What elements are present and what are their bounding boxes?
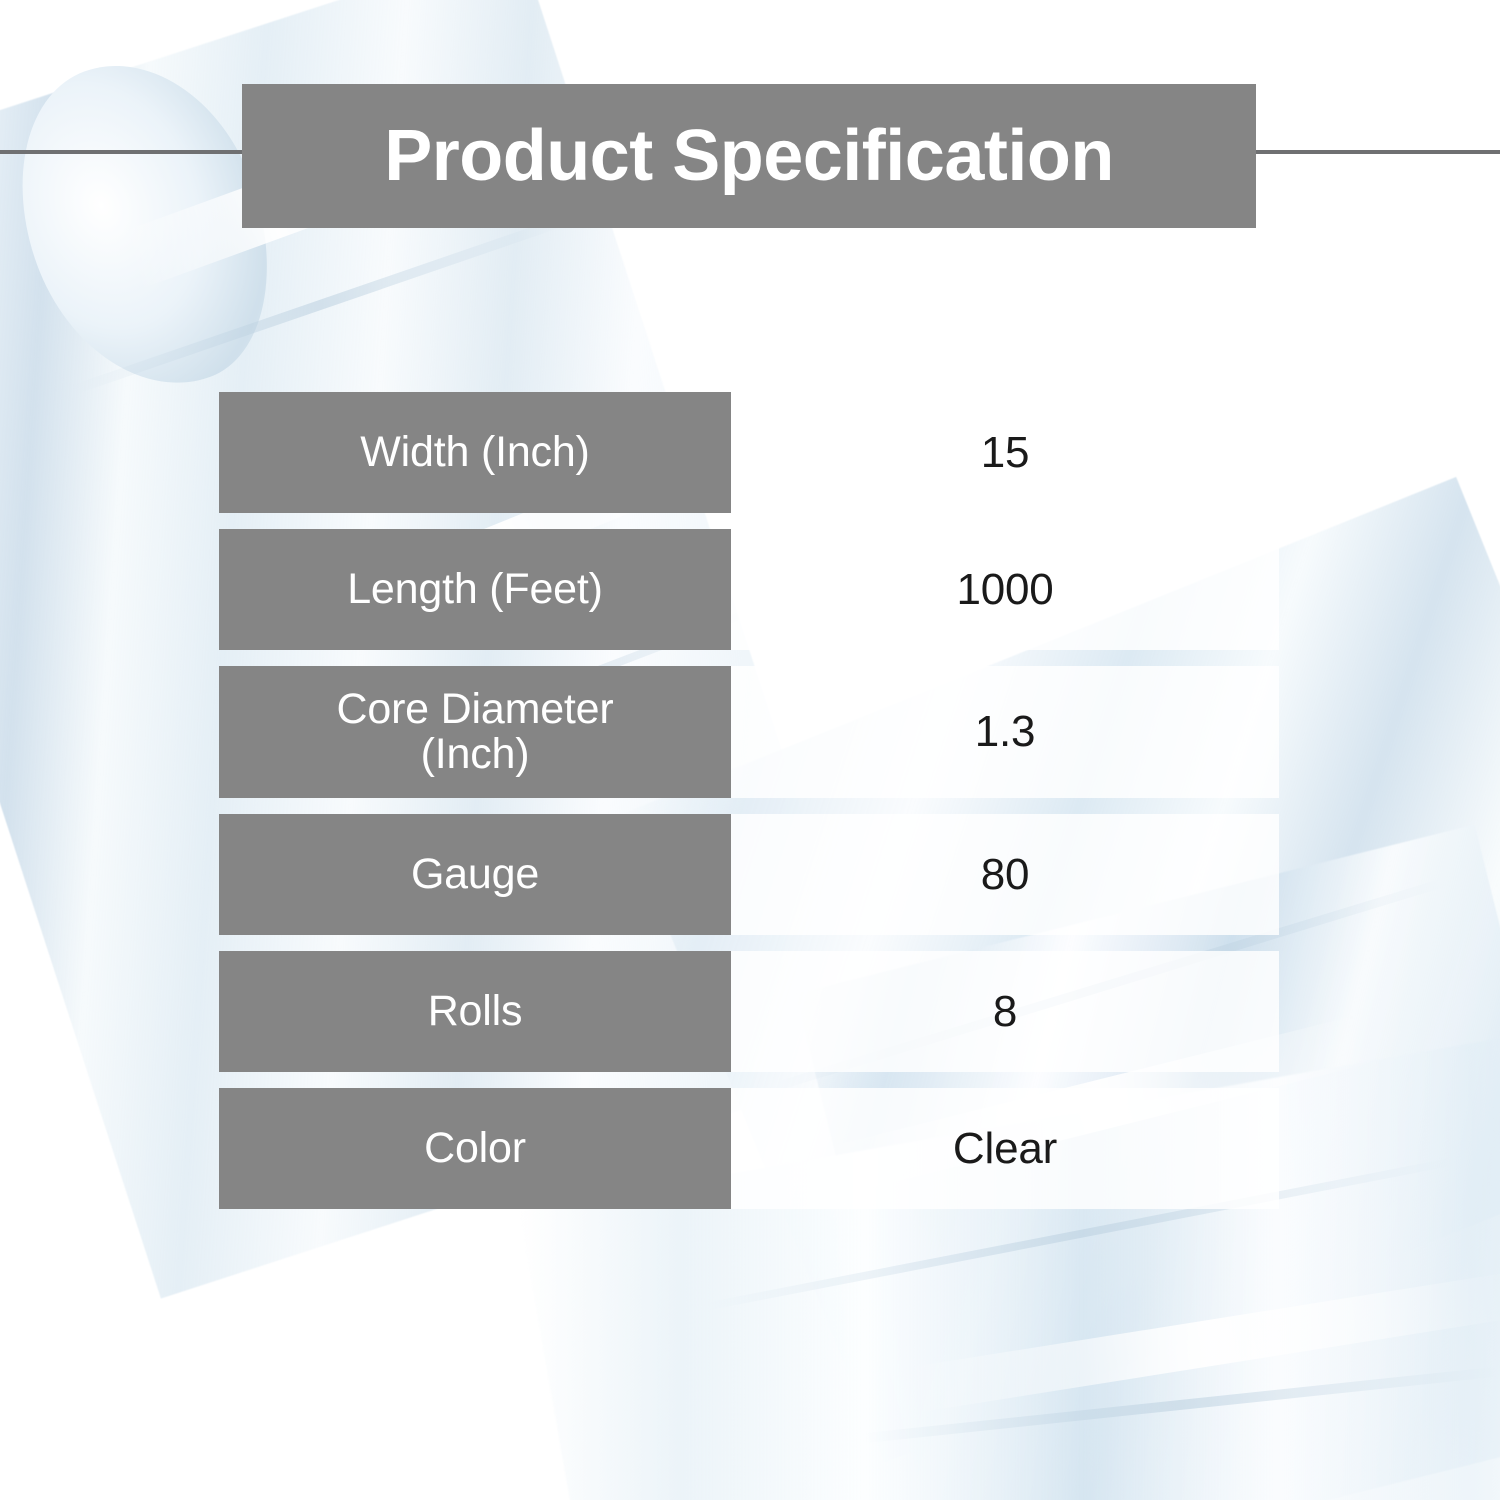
- spec-label-length: Length (Feet): [219, 529, 731, 650]
- spec-label-core-diameter-line2: (Inch): [421, 732, 530, 777]
- table-row: Rolls 8: [219, 951, 1279, 1072]
- spec-value-rolls: 8: [731, 951, 1279, 1072]
- table-row: Length (Feet) 1000: [219, 529, 1279, 650]
- background-highlight-streak: [900, 1272, 1500, 1414]
- table-row: Gauge 80: [219, 814, 1279, 935]
- spec-label-core-diameter: Core Diameter (Inch): [219, 666, 731, 798]
- specification-table: Width (Inch) 15 Length (Feet) 1000 Core …: [219, 392, 1279, 1225]
- spec-label-color: Color: [219, 1088, 731, 1209]
- spec-label-gauge: Gauge: [219, 814, 731, 935]
- spec-value-color: Clear: [731, 1088, 1279, 1209]
- table-row: Core Diameter (Inch) 1.3: [219, 666, 1279, 798]
- spec-label-rolls: Rolls: [219, 951, 731, 1072]
- spec-value-core-diameter: 1.3: [731, 666, 1279, 798]
- background-fold-line: [861, 1367, 1499, 1444]
- background-fold-line: [73, 216, 568, 395]
- spec-value-gauge: 80: [731, 814, 1279, 935]
- product-specification-page: Product Specification Width (Inch) 15 Le…: [0, 0, 1500, 1500]
- spec-label-width: Width (Inch): [219, 392, 731, 513]
- spec-value-width: 15: [731, 392, 1279, 513]
- title-plate: Product Specification: [242, 84, 1256, 228]
- spec-label-core-diameter-line1: Core Diameter: [337, 687, 614, 732]
- table-row: Color Clear: [219, 1088, 1279, 1209]
- page-title: Product Specification: [384, 120, 1114, 192]
- spec-value-length: 1000: [731, 529, 1279, 650]
- table-row: Width (Inch) 15: [219, 392, 1279, 513]
